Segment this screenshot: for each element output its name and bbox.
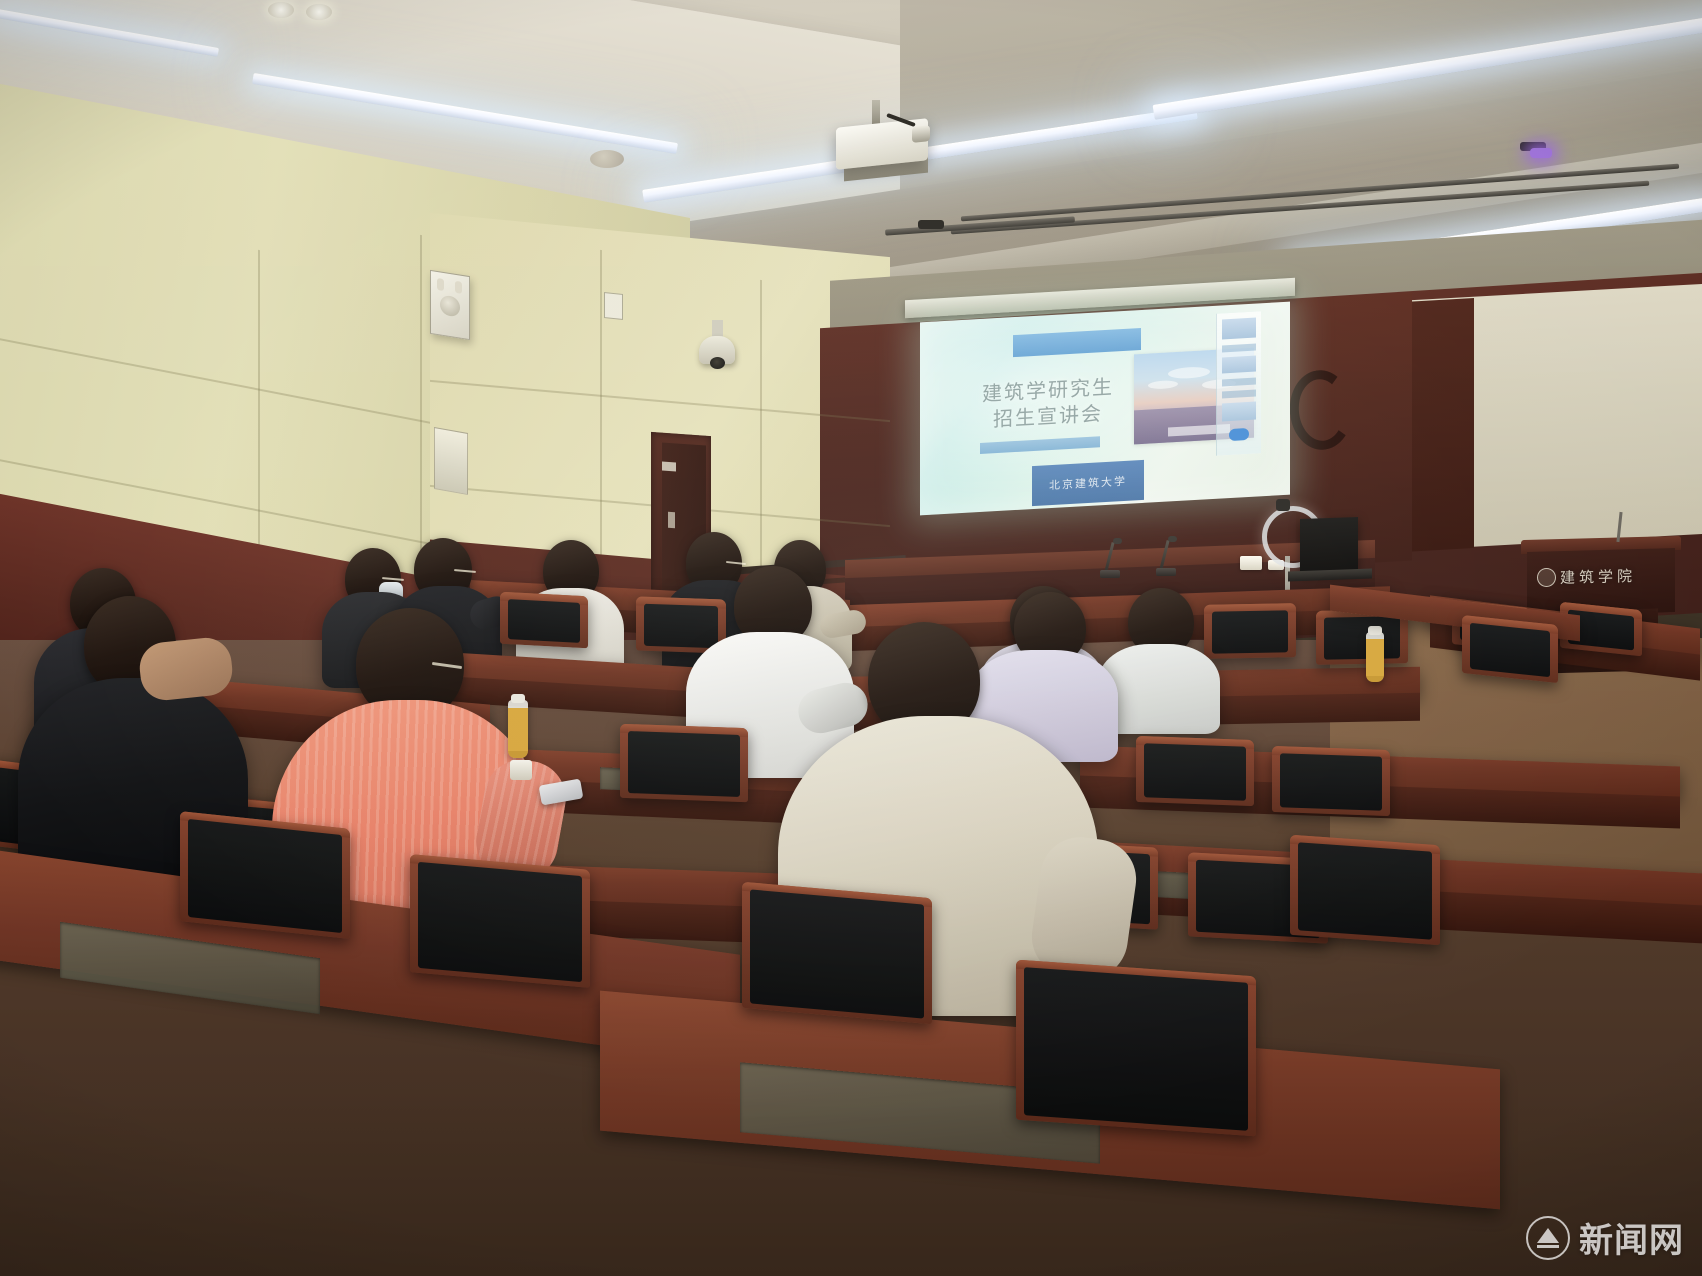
microphone-head: [1113, 538, 1122, 544]
wall-seam: [600, 250, 602, 580]
chair: [500, 592, 588, 649]
chair: [1204, 603, 1296, 659]
chair-pad: [1144, 743, 1246, 801]
door-sign: [662, 462, 676, 472]
chair-pad: [644, 604, 718, 649]
projection-screen: 建筑学研究生 招生宣讲会 北京建筑大学: [920, 302, 1290, 516]
bottle-cap: [511, 694, 525, 703]
slide-title: 建筑学研究生 招生宣讲会: [968, 373, 1128, 434]
side-thumbnail: [1222, 318, 1256, 340]
ring-light-phone-clip: [1276, 499, 1290, 511]
microphone-head: [1168, 536, 1177, 542]
lecture-hall-photo: 建筑学研究生 招生宣讲会 北京建筑大学: [0, 0, 1702, 1276]
chair: [1290, 835, 1440, 945]
far-wall-right-column: [1404, 298, 1474, 552]
side-row: [1222, 378, 1256, 387]
chair: [180, 811, 350, 939]
chair: [1016, 960, 1256, 1137]
chair-pad: [1280, 753, 1382, 811]
chair: [1272, 746, 1390, 816]
watermark-text: 新闻网: [1579, 1213, 1684, 1262]
chair-pad: [1470, 623, 1550, 677]
microphone-base: [1156, 568, 1176, 576]
cloud-shape: [1148, 380, 1178, 390]
chair: [1136, 736, 1254, 806]
door-handle[interactable]: [668, 512, 675, 528]
chair-pad: [1298, 842, 1432, 939]
tea-bottle: [508, 700, 528, 758]
purple-indicator-led: [1530, 148, 1552, 158]
projector-lens: [912, 125, 930, 143]
chair-pad: [1324, 616, 1400, 659]
chair: [1462, 615, 1558, 683]
track-spot-head: [918, 220, 944, 229]
side-thumbnail: [1222, 356, 1256, 374]
side-action-button[interactable]: [1229, 428, 1249, 441]
chair-pad: [1024, 967, 1248, 1131]
side-row: [1222, 344, 1256, 353]
speaker-tweeter: [455, 281, 462, 294]
laptop[interactable]: [1300, 517, 1358, 573]
chair-pad: [1212, 610, 1288, 653]
ceiling-downlight: [268, 2, 294, 18]
news-site-crest-icon: [1526, 1216, 1570, 1260]
tea-bottle: [1366, 632, 1384, 682]
slide-side-panel: [1216, 311, 1261, 456]
name-plate: [1240, 556, 1262, 570]
university-crest-icon: [1537, 568, 1556, 587]
chair: [410, 854, 590, 988]
paper-cup: [510, 760, 532, 780]
slide-logo-band: 北京建筑大学: [1032, 460, 1144, 506]
chair: [742, 882, 932, 1025]
wall-control-box[interactable]: [434, 427, 468, 495]
chair-pad: [188, 819, 342, 933]
projector-mount-arm: [872, 100, 880, 126]
watermark: 新闻网: [1526, 1213, 1684, 1262]
wall-outlet-plate[interactable]: [604, 292, 623, 320]
camera-lens-icon: [710, 357, 725, 369]
ceiling-downlight: [306, 4, 332, 20]
chair-pad: [750, 889, 924, 1018]
side-thumbnail: [1222, 402, 1256, 422]
speaker-cone: [440, 294, 460, 317]
chair-pad: [418, 862, 582, 982]
chair-pad: [508, 599, 580, 643]
wall-speaker: [430, 270, 470, 340]
chair-pad: [628, 731, 740, 797]
cloud-shape: [1168, 366, 1210, 379]
microphone-base: [1100, 570, 1120, 578]
side-row: [1222, 390, 1256, 399]
wall-seam: [760, 280, 762, 570]
slide-logo-text: 北京建筑大学: [1032, 460, 1144, 506]
bottle-cap: [1368, 626, 1382, 635]
podium-label: 建筑学院: [1560, 565, 1636, 588]
speaker-tweeter: [437, 278, 444, 291]
chair: [620, 724, 748, 802]
smoke-detector: [590, 150, 624, 168]
